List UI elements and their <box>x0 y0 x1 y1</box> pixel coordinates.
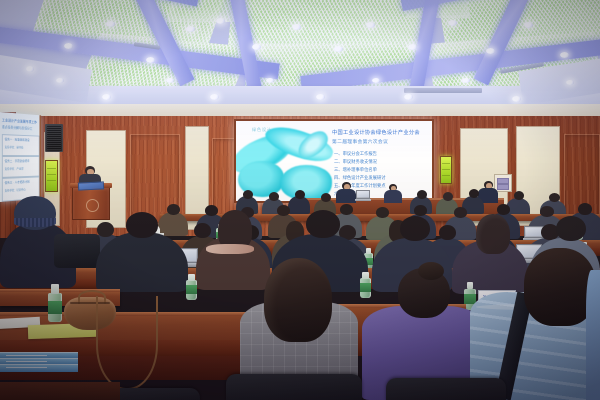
floor <box>0 382 120 400</box>
audience-head <box>578 203 592 215</box>
chair-back <box>110 388 200 400</box>
side-screen-box-note: 责任单位：培训中心 <box>5 187 26 192</box>
audience-head <box>306 210 340 238</box>
booklet <box>0 364 78 372</box>
audience-head <box>454 207 467 218</box>
ceiling-downlight <box>252 44 261 50</box>
audience-head <box>269 192 279 201</box>
bottle-cap <box>188 274 194 281</box>
audience-head <box>514 191 524 200</box>
audience-head <box>469 189 479 198</box>
bottle-cap <box>51 284 59 294</box>
beanie-ribbing <box>14 218 56 227</box>
speaker-grille <box>47 126 61 150</box>
audience-member <box>586 270 600 400</box>
ceiling-downlight <box>26 66 34 72</box>
side-screen-box-label: 任务二 · 示范企业培育 <box>5 159 30 163</box>
ceiling-downlight <box>448 20 457 26</box>
laptop-screen <box>357 191 369 197</box>
ceiling-downlight <box>106 21 115 27</box>
presenter-torso <box>384 190 402 203</box>
long-dark-hair <box>264 258 332 342</box>
laptop-base <box>355 199 371 201</box>
laptop-screen <box>526 228 543 236</box>
bag-on-chair <box>54 234 100 268</box>
ceiling-downlight <box>102 94 111 100</box>
side-wall-screen: 工业设计产业发展专项工作 重点任务分解与责任分工 任务一 · 标准体系建设 责任… <box>0 112 41 202</box>
water-bottle[interactable] <box>186 274 197 300</box>
audience-head <box>126 212 158 238</box>
podium-emblem <box>86 199 99 212</box>
audience-head <box>400 216 430 241</box>
exit-sign <box>440 156 452 184</box>
water-bottle[interactable] <box>48 284 62 322</box>
audience-head <box>295 190 305 199</box>
audience-member <box>96 232 188 292</box>
slide-title: 中国工业设计协会绿色设计产业分会 <box>332 129 428 136</box>
ceiling-downlight <box>334 46 343 52</box>
ceiling-downlight <box>486 48 495 54</box>
ceiling-downlight <box>560 52 569 58</box>
slide-canvas: 绿色设计 中国工业设计协会绿色设计产业分会 第二届理事会第六次会议 一、审议分会… <box>236 121 432 201</box>
side-screen-box-label: 任务三 · 人才培养计划 <box>5 180 30 185</box>
scarf <box>206 244 254 254</box>
ceiling-downlight <box>316 94 325 100</box>
chair-back <box>386 378 506 400</box>
booklet-title-line <box>6 367 47 368</box>
audience-head <box>376 207 389 218</box>
ceiling-downlight <box>64 43 73 49</box>
ceiling-downlight <box>266 78 274 83</box>
slide-brand-mark: 绿色设计 <box>252 127 272 133</box>
ceiling-downlight <box>462 78 470 83</box>
speaking-podium <box>72 186 110 220</box>
handbag-shoulder-strap <box>96 296 158 390</box>
audience-head <box>417 190 427 199</box>
audience-head <box>97 222 114 237</box>
side-screen-box: 任务二 · 示范企业培育 责任单位：产业部 <box>2 156 40 178</box>
audience-head <box>439 225 456 240</box>
blue-booklets[interactable] <box>0 352 78 372</box>
audience-head <box>277 205 290 216</box>
ceiling-downlight <box>56 78 64 83</box>
hair-bun <box>418 262 444 280</box>
ceiling-downlight <box>404 94 413 100</box>
bottle-cap <box>366 248 371 254</box>
ceiling-air-vent <box>404 88 482 93</box>
main-projection-screen: 绿色设计 中国工业设计协会绿色设计产业分会 第二届理事会第六次会议 一、审议分会… <box>234 119 434 203</box>
presenter-torso <box>336 189 356 203</box>
audience-head <box>443 192 453 201</box>
audience-head <box>497 204 510 215</box>
ceiling-downlight <box>146 57 155 63</box>
side-screen-box: 任务一 · 标准体系建设 责任单位：秘书处 <box>2 134 40 156</box>
ceiling-downlight <box>512 96 521 102</box>
slide-bullet: 四、绿色设计产业发展研讨 <box>334 175 428 181</box>
audience-head <box>556 216 586 241</box>
side-screen-header: 工业设计产业发展专项工作 <box>2 117 37 124</box>
control-switch-row[interactable] <box>497 184 509 190</box>
bottle-label <box>186 285 197 294</box>
presenter <box>384 184 402 202</box>
slide-subtitle: 第二届理事会第六次会议 <box>332 138 428 145</box>
ceiling-downlight <box>566 80 574 85</box>
presenter-laptop[interactable] <box>356 190 370 201</box>
side-screen-box-label: 任务一 · 标准体系建设 <box>5 137 30 142</box>
podium-document <box>78 181 104 190</box>
audience-head <box>549 193 560 202</box>
ceiling-downlight <box>166 78 174 83</box>
exit-sign <box>45 160 58 192</box>
ceiling-downlight <box>366 22 375 28</box>
audience-head <box>167 204 180 215</box>
ceiling-downlight <box>186 26 195 32</box>
booklet-title-line <box>6 355 47 356</box>
audience-head <box>205 205 218 216</box>
ceiling-downlight <box>372 78 380 83</box>
booklet-title-line <box>6 361 47 362</box>
audience-head <box>340 204 353 215</box>
audience-head <box>321 193 331 202</box>
side-screen-subheader: 重点任务分解与责任分工 <box>2 124 32 131</box>
slide-bullet: 一、审议分会工作报告 <box>334 151 428 157</box>
coffered-ceiling <box>0 0 600 118</box>
side-screen-box-note: 责任单位：秘书处 <box>5 145 24 149</box>
bottle-label <box>48 301 62 314</box>
slide-bullet: 三、增补理事单位名单 <box>334 167 428 173</box>
audience-head <box>194 223 211 238</box>
presenter <box>336 182 356 202</box>
conference-hall-photo: 工业设计产业发展专项工作 重点任务分解与责任分工 任务一 · 标准体系建设 责任… <box>0 0 600 400</box>
ceiling-soffit <box>0 86 600 104</box>
side-screen-box-note: 责任单位：产业部 <box>5 167 24 171</box>
ceiling-downlight <box>292 24 301 30</box>
ceiling-downlight <box>210 94 219 100</box>
audience-head <box>540 206 554 217</box>
ceiling-downlight <box>216 18 225 24</box>
audience-head <box>414 205 427 216</box>
audience-head <box>243 190 253 199</box>
chair-back <box>226 374 362 400</box>
slide-bullet: 二、审议财务收支情况 <box>334 159 428 165</box>
ceiling-downlight <box>524 22 533 28</box>
wall-speaker <box>45 124 63 152</box>
ceiling-downlight <box>408 44 417 50</box>
